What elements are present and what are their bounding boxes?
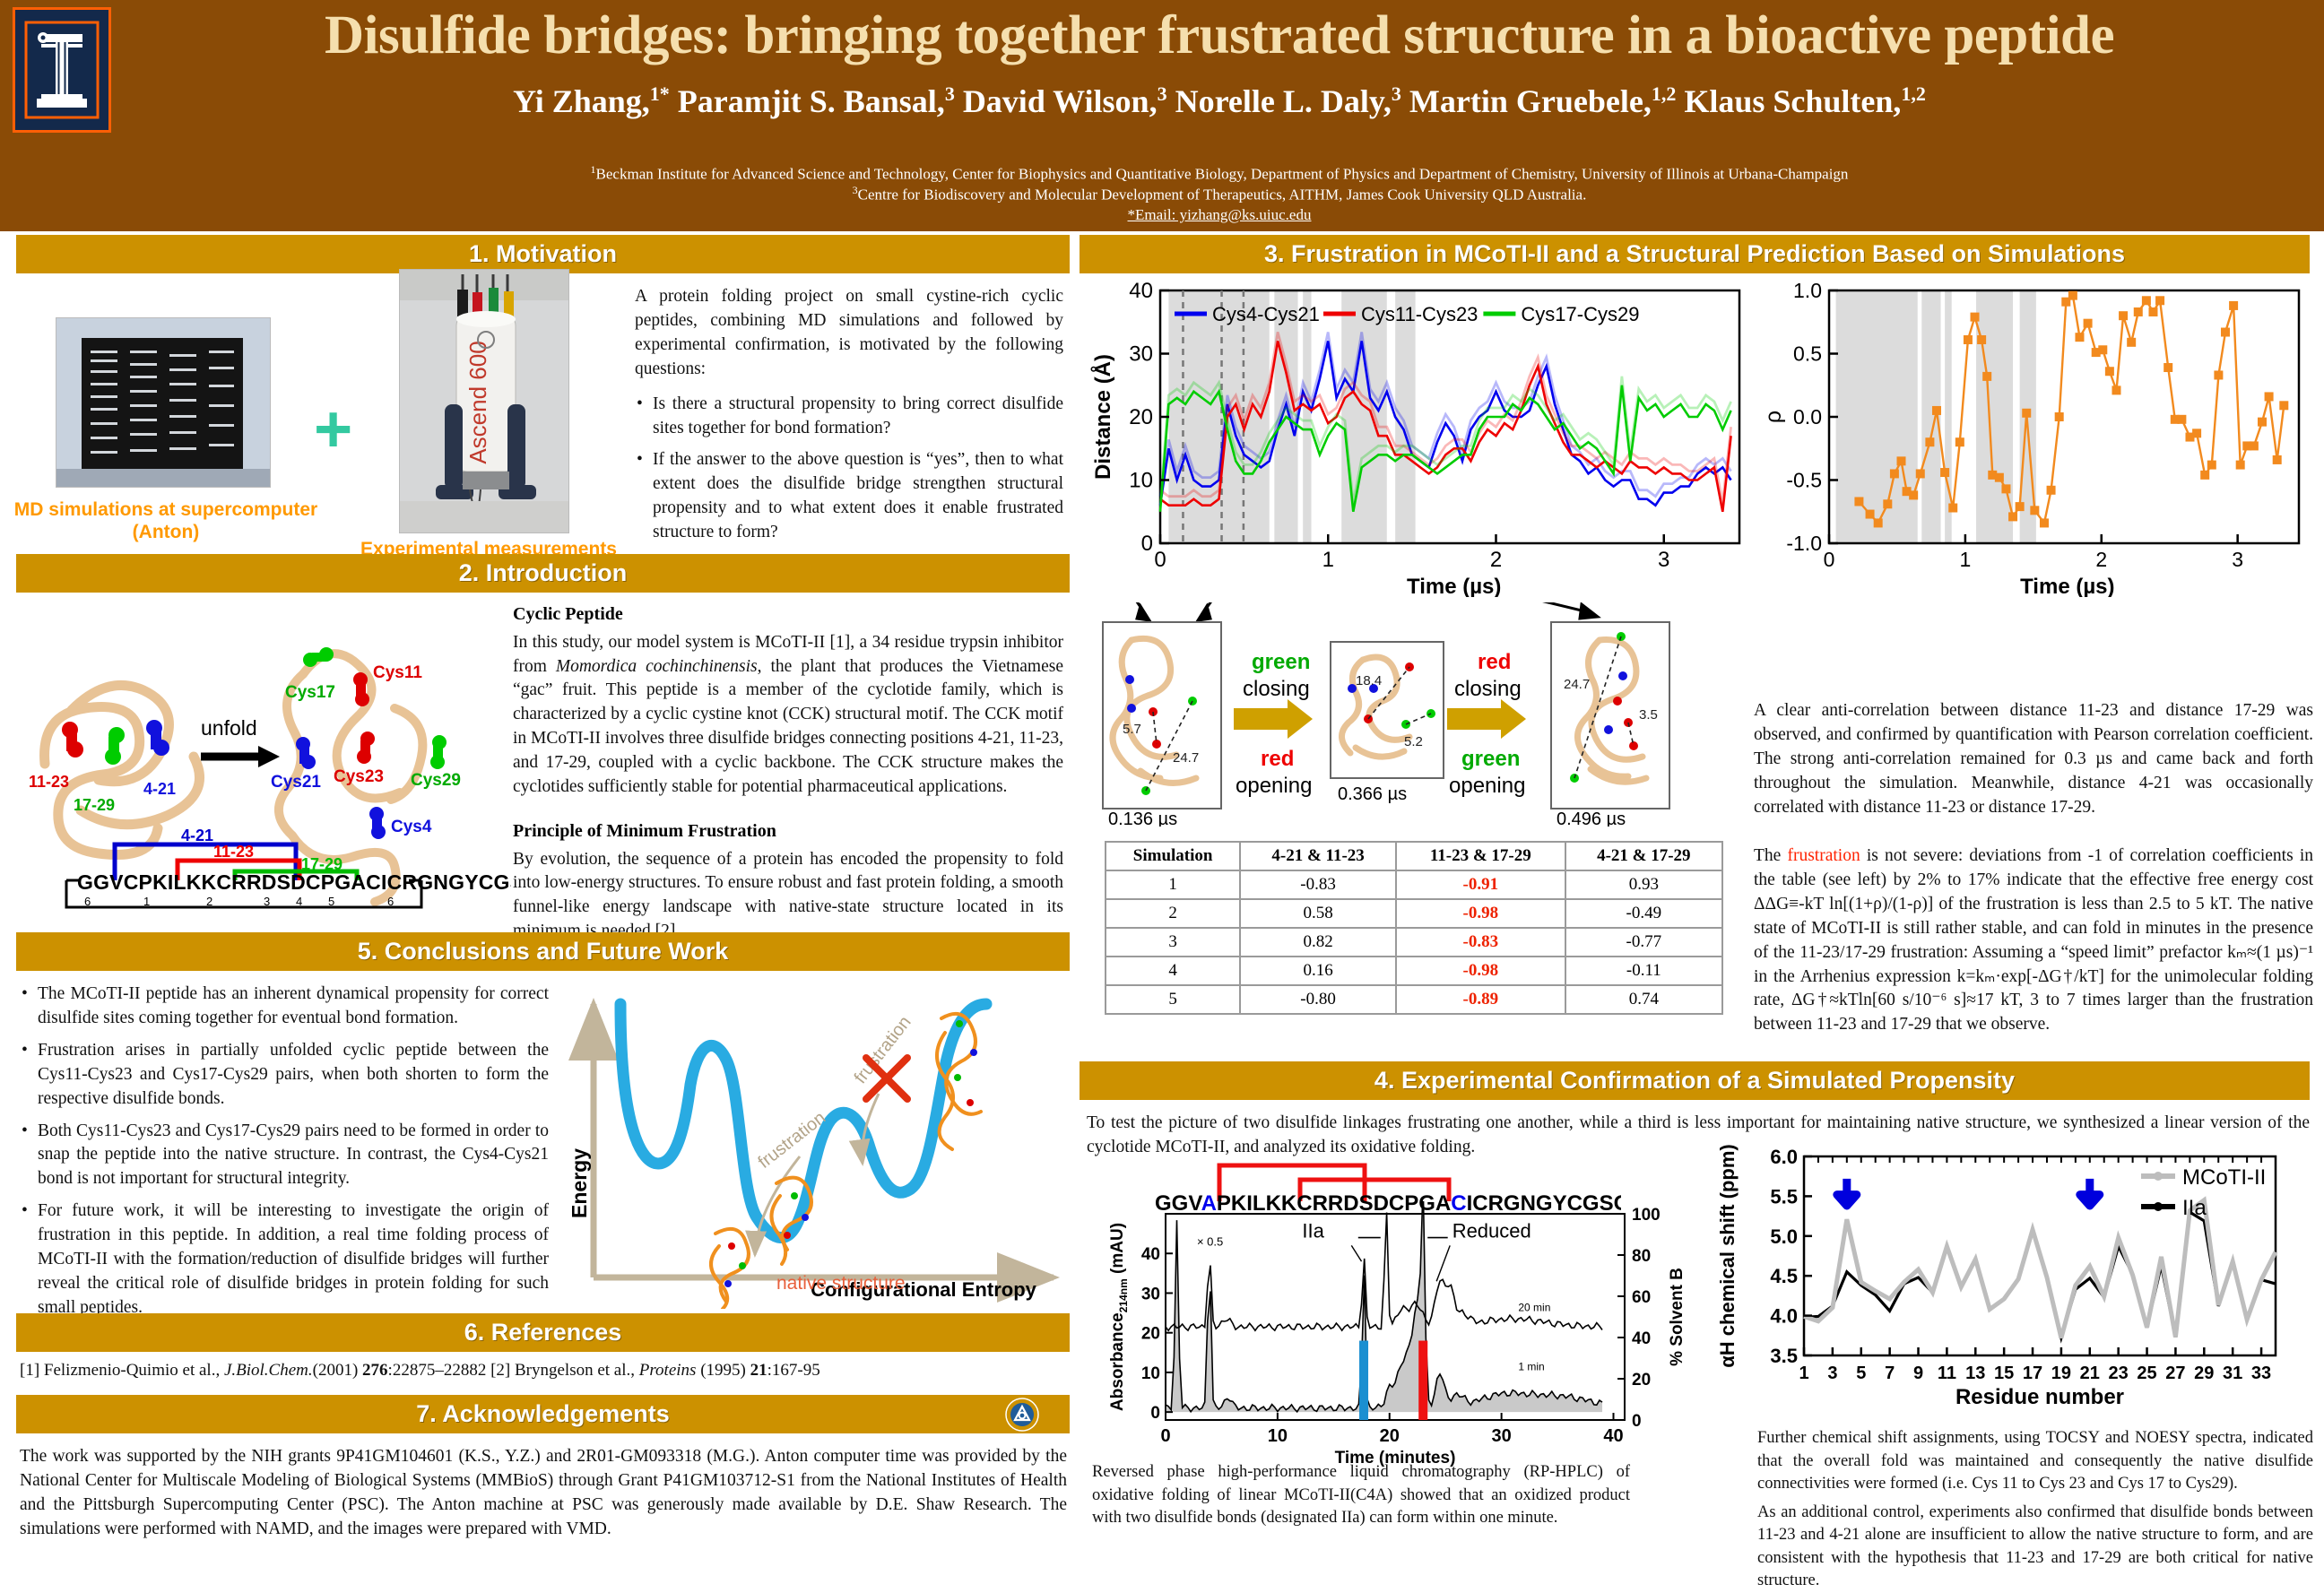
section-banner-frustration: 3. Frustration in MCoTI-II and a Structu… [1080, 235, 2310, 273]
poster-header: Disulfide bridges: bringing together fru… [0, 0, 2324, 231]
svg-text:ρ: ρ [1761, 411, 1786, 423]
svg-text:2: 2 [206, 895, 212, 908]
svg-text:2: 2 [1490, 548, 1502, 572]
svg-text:4-21: 4-21 [143, 780, 176, 798]
cell-a: 0.16 [1240, 957, 1396, 985]
cell-sim: 4 [1106, 957, 1240, 985]
svg-text:-1.0: -1.0 [1786, 532, 1822, 555]
native-structure-label: native structure [776, 1273, 906, 1294]
svg-text:0: 0 [1150, 1404, 1160, 1423]
svg-text:Energy: Energy [568, 1148, 591, 1218]
min-frustration-paragraph: By evolution, the sequence of a protein … [513, 848, 1063, 945]
frustration-keyword: frustration [1787, 846, 1860, 865]
svg-text:6.0: 6.0 [1770, 1146, 1798, 1168]
cell-a: -0.83 [1240, 870, 1396, 899]
supercomputer-caption-line2: (Anton) [9, 521, 323, 543]
cell-sim: 1 [1106, 870, 1240, 899]
affiliation-2: Centre for Biodiscovery and Molecular De… [858, 186, 1587, 203]
chemshift-caption-p2: As an additional control, experiments al… [1757, 1502, 2313, 1593]
svg-text:11-23: 11-23 [213, 843, 254, 861]
arrow1-label-green: green [1252, 650, 1310, 674]
svg-text:40: 40 [1129, 279, 1153, 303]
snapshot-3-time: 0.496 µs [1557, 809, 1626, 827]
motivation-bullet-2: If the answer to the above question is “… [635, 448, 1063, 545]
svg-text:17-29: 17-29 [74, 796, 115, 814]
svg-text:1: 1 [1799, 1364, 1808, 1383]
svg-text:1 min: 1 min [1518, 1361, 1544, 1373]
svg-text:5.0: 5.0 [1770, 1225, 1798, 1248]
ref1-journal: J.Biol.Chem. [224, 1361, 313, 1380]
cell-a: 0.82 [1240, 928, 1396, 957]
svg-text:10: 10 [1268, 1426, 1288, 1446]
svg-text:Time (µs): Time (µs) [2020, 575, 2114, 597]
cell-b: -0.98 [1396, 899, 1565, 928]
svg-text:Residue number: Residue number [1955, 1385, 2124, 1409]
author-list: Yi Zhang,1* Paramjit S. Bansal,3 David W… [126, 82, 2313, 120]
university-logo [13, 7, 111, 133]
svg-text:IIa: IIa [1302, 1220, 1324, 1242]
svg-text:0.0: 0.0 [1793, 405, 1822, 429]
svg-text:60: 60 [1632, 1288, 1651, 1307]
svg-text:unfold: unfold [201, 716, 257, 740]
table-row: 20.58-0.98-0.49 [1106, 899, 1722, 928]
snapshot-1-time: 0.136 µs [1108, 809, 1177, 827]
supercomputer-caption-line1: MD simulations at supercomputer [9, 498, 323, 521]
svg-text:1.0: 1.0 [1793, 279, 1822, 302]
svg-text:-0.5: -0.5 [1786, 469, 1822, 492]
conclusion-bullet-1: The MCoTI-II peptide has an inherent dyn… [20, 983, 549, 1031]
structure-snapshot-sequence: 5.7 24.7 0.136 µs green closing red open… [1090, 602, 1745, 827]
svg-text:MCoTI-II: MCoTI-II [2182, 1165, 2266, 1190]
motivation-bullet-1: Is there a structural propensity to brin… [635, 393, 1063, 441]
snapshot-2-time: 0.366 µs [1338, 784, 1407, 804]
svg-text:0: 0 [1824, 548, 1835, 571]
svg-text:17: 17 [2023, 1364, 2042, 1383]
affiliations: 1Beckman Institute for Advanced Science … [126, 163, 2313, 225]
svg-text:3: 3 [264, 895, 270, 908]
rp-hplc-chart: 010203040020406080100010203040Time (minu… [1103, 1201, 1695, 1470]
min-frustration-heading: Principle of Minimum Frustration [513, 819, 1063, 844]
cyclic-peptide-heading: Cyclic Peptide [513, 602, 1063, 628]
svg-text:Cys4-Cys21: Cys4-Cys21 [1212, 303, 1320, 325]
table-row: 40.16-0.98-0.11 [1106, 957, 1722, 985]
svg-text:40: 40 [1632, 1329, 1651, 1348]
th-4-21-11-23: 4-21 & 11-23 [1240, 842, 1396, 870]
ref1-volume: 276 [362, 1361, 388, 1380]
conclusion-bullet-2: Frustration arises in partially unfolded… [20, 1039, 549, 1112]
svg-text:Cys11-Cys23: Cys11-Cys23 [1361, 303, 1478, 325]
svg-text:5: 5 [1856, 1364, 1866, 1383]
svg-text:20: 20 [1141, 1325, 1160, 1344]
block-i-icon [23, 20, 100, 120]
ref2-author: [2] Bryngelson et al., [490, 1361, 639, 1380]
svg-text:3: 3 [2232, 548, 2243, 571]
svg-text:40: 40 [1141, 1245, 1160, 1264]
arrow1-label-red: red [1261, 747, 1294, 771]
ref1-year: (2001) [313, 1361, 362, 1380]
pearson-correlation-chart: -1.0-0.50.00.51.00123Time (µs)ρ [1757, 274, 2313, 597]
svg-text:13: 13 [1965, 1364, 1985, 1383]
svg-text:4-21: 4-21 [181, 827, 213, 844]
snapshot-3-dist-1: 24.7 [1564, 677, 1590, 692]
svg-text:10: 10 [1129, 469, 1153, 493]
cyclic-peptide-paragraph: In this study, our model system is MCoTI… [513, 631, 1063, 800]
svg-text:30: 30 [1141, 1285, 1160, 1303]
svg-text:5: 5 [328, 895, 334, 908]
arrow-right-icon-1 [1234, 699, 1313, 739]
svg-text:15: 15 [1994, 1364, 2014, 1383]
table-row: 30.82-0.83-0.77 [1106, 928, 1722, 957]
cell-b: -0.83 [1396, 928, 1565, 957]
arrow1-label-closing: closing [1243, 677, 1310, 701]
svg-text:33: 33 [2251, 1364, 2271, 1383]
section-banner-references: 6. References [16, 1313, 1070, 1352]
section-banner-experimental: 4. Experimental Confirmation of a Simula… [1080, 1061, 2310, 1100]
cell-c: 0.74 [1565, 985, 1722, 1014]
section-banner-motivation: 1. Motivation [16, 235, 1070, 273]
svg-text:20 min: 20 min [1518, 1301, 1550, 1313]
correlation-table: Simulation 4-21 & 11-23 11-23 & 17-29 4-… [1105, 841, 1723, 1015]
svg-text:5.5: 5.5 [1770, 1185, 1798, 1208]
poster-title: Disulfide bridges: bringing together fru… [126, 7, 2313, 65]
arrow1-label-opening: opening [1236, 774, 1312, 798]
svg-text:0: 0 [1154, 548, 1166, 572]
energy-landscape-figure: Energy Configurational Entropy frustrati… [565, 977, 1067, 1309]
svg-text:Time (µs): Time (µs) [1407, 575, 1501, 597]
chemical-shift-caption: Further chemical shift assignments, usin… [1757, 1427, 2313, 1593]
arrow2-label-opening: opening [1449, 774, 1525, 798]
svg-text:Cys11: Cys11 [373, 663, 422, 682]
cell-c: -0.49 [1565, 899, 1722, 928]
cell-sim: 5 [1106, 985, 1240, 1014]
svg-text:0: 0 [1632, 1412, 1642, 1431]
correlation-table-wrapper: Simulation 4-21 & 11-23 11-23 & 17-29 4-… [1105, 841, 1723, 1015]
svg-text:3.5: 3.5 [1770, 1345, 1798, 1367]
svg-text:20: 20 [1632, 1371, 1651, 1390]
table-row: 1-0.83-0.910.93 [1106, 870, 1722, 899]
svg-text:21: 21 [2080, 1364, 2100, 1383]
svg-text:Cys21: Cys21 [271, 773, 321, 792]
conclusion-bullet-4: For future work, it will be interesting … [20, 1199, 549, 1320]
svg-text:4: 4 [296, 895, 302, 908]
conclusion-bullet-3: Both Cys11-Cys23 and Cys17-Cys29 pairs n… [20, 1120, 549, 1192]
references-text: [1] Felizmenio-Quimio et al., J.Biol.Che… [20, 1359, 1067, 1382]
svg-text:Distance (Å): Distance (Å) [1090, 354, 1115, 480]
svg-text:80: 80 [1632, 1247, 1651, 1266]
introduction-text: Cyclic Peptide In this study, our model … [513, 602, 1063, 944]
frustration-pre: The [1754, 846, 1787, 865]
ref2-year: (1995) [696, 1361, 750, 1380]
svg-text:2: 2 [2095, 548, 2107, 571]
cell-b: -0.98 [1396, 957, 1565, 985]
th-11-23-17-29: 11-23 & 17-29 [1396, 842, 1565, 870]
frustration-post: is not severe: deviations from -1 of cor… [1754, 846, 2313, 1034]
nih-logo-icon [1004, 1397, 1040, 1433]
svg-text:100: 100 [1632, 1206, 1661, 1225]
anton-supercomputer-photo [56, 317, 271, 488]
supercomputer-caption: MD simulations at supercomputer (Anton) [9, 498, 323, 543]
svg-text:3: 3 [1827, 1364, 1837, 1383]
chemical-shift-chart: 3.54.04.55.05.56.01357911131517192123252… [1704, 1137, 2304, 1424]
ref1-pages: :22875–22882 [388, 1361, 491, 1380]
conclusions-list: The MCoTI-II peptide has an inherent dyn… [20, 983, 549, 1329]
th-4-21-17-29: 4-21 & 17-29 [1565, 842, 1722, 870]
intro-p1b: , the plant that produces the Vietnamese… [513, 657, 1063, 797]
svg-text:7: 7 [1885, 1364, 1895, 1383]
cell-sim: 3 [1106, 928, 1240, 957]
svg-text:Absorbance214nm (mAU): Absorbance214nm (mAU) [1108, 1223, 1130, 1411]
section-banner-conclusions: 5. Conclusions and Future Work [16, 932, 1070, 971]
svg-text:20: 20 [1129, 405, 1153, 429]
svg-text:1: 1 [143, 895, 150, 908]
svg-text:αH chemical shift (ppm): αH chemical shift (ppm) [1716, 1144, 1739, 1367]
motivation-text: A protein folding project on small cysti… [635, 285, 1063, 553]
svg-text:IIa: IIa [2182, 1196, 2207, 1220]
svg-text:25: 25 [2137, 1364, 2156, 1383]
cell-b: -0.91 [1396, 870, 1565, 899]
svg-text:Reduced: Reduced [1452, 1220, 1531, 1242]
svg-text:19: 19 [2051, 1364, 2071, 1383]
cell-c: -0.11 [1565, 957, 1722, 985]
nmr-spectrometer-photo: Ascend 600 [399, 269, 569, 533]
svg-text:30: 30 [1129, 342, 1153, 367]
chemshift-caption-p1: Further chemical shift assignments, usin… [1757, 1427, 2313, 1496]
svg-text:27: 27 [2165, 1364, 2185, 1383]
ref2-pages: :167-95 [767, 1361, 820, 1380]
svg-text:4.0: 4.0 [1770, 1305, 1798, 1328]
snapshot-2-dist-1: 18.4 [1356, 673, 1382, 688]
svg-text:Cys29: Cys29 [411, 771, 461, 790]
snapshot-2-dist-2: 5.2 [1404, 734, 1423, 749]
hplc-caption: Reversed phase high-performance liquid c… [1092, 1461, 1630, 1530]
arrow2-label-closing: closing [1454, 677, 1522, 701]
species-name: Momordica cochinchinensis [556, 657, 758, 676]
svg-text:40: 40 [1603, 1426, 1623, 1446]
affiliation-1: Beckman Institute for Advanced Science a… [596, 166, 1849, 183]
cell-a: -0.80 [1240, 985, 1396, 1014]
svg-text:Cys23: Cys23 [334, 767, 384, 786]
arrow-right-icon-2 [1447, 699, 1526, 739]
svg-text:10: 10 [1141, 1364, 1160, 1383]
arrow2-label-green: green [1461, 747, 1520, 771]
contact-email[interactable]: *Email: yizhang@ks.uiuc.edu [1128, 206, 1312, 223]
svg-text:23: 23 [2109, 1364, 2129, 1383]
svg-text:20: 20 [1380, 1426, 1400, 1446]
cell-c: 0.93 [1565, 870, 1722, 899]
svg-text:% Solvent B: % Solvent B [1668, 1268, 1687, 1366]
svg-text:× 0.5: × 0.5 [1197, 1234, 1223, 1248]
arrow2-label-red: red [1478, 650, 1511, 674]
cell-c: -0.77 [1565, 928, 1722, 957]
section-banner-acknowledgements: 7. Acknowledgements [16, 1395, 1070, 1433]
svg-text:6: 6 [387, 895, 394, 908]
table-header-row: Simulation 4-21 & 11-23 11-23 & 17-29 4-… [1106, 842, 1722, 870]
cell-sim: 2 [1106, 899, 1240, 928]
svg-text:Ascend 600: Ascend 600 [464, 341, 491, 463]
svg-text:0: 0 [1160, 1426, 1170, 1446]
svg-text:GGVCPKILKKCRRDSDCPGACICRGNGYCG: GGVCPKILKKCRRDSDCPGACICRGNGYCGSGSD [77, 870, 511, 894]
snapshot-1-dist-2: 24.7 [1173, 750, 1199, 766]
svg-text:1: 1 [1322, 548, 1334, 572]
svg-text:Cys17-Cys29: Cys17-Cys29 [1521, 303, 1639, 325]
section-banner-introduction: 2. Introduction [16, 554, 1070, 593]
plus-icon: + [314, 391, 352, 467]
acknowledgements-text: The work was supported by the NIH grants… [20, 1445, 1067, 1542]
svg-text:9: 9 [1913, 1364, 1923, 1383]
snapshot-1-dist-1: 5.7 [1123, 722, 1141, 737]
sequence-bridge-diagram: 4-21 11-23 17-29 GGVCPKILKKCRRDSDCPGACIC… [45, 825, 511, 911]
svg-text:30: 30 [1492, 1426, 1512, 1446]
svg-text:1: 1 [1959, 548, 1971, 571]
th-simulation: Simulation [1106, 842, 1240, 870]
distance-timeseries-chart: 0102030400123Time (µs)Distance (Å)Cys4-C… [1087, 274, 1750, 597]
ref1-author: [1] Felizmenio-Quimio et al., [20, 1361, 224, 1380]
svg-text:11: 11 [1938, 1364, 1956, 1383]
svg-text:0.5: 0.5 [1793, 342, 1822, 366]
frustration-paragraph: The frustration is not severe: deviation… [1754, 844, 2313, 1037]
svg-text:0: 0 [1141, 532, 1153, 556]
ref2-volume: 21 [750, 1361, 767, 1380]
anticorrelation-paragraph: A clear anti-correlation between distanc… [1754, 699, 2313, 820]
svg-text:31: 31 [2223, 1364, 2242, 1383]
svg-text:11-23: 11-23 [29, 773, 69, 791]
snapshot-3-dist-2: 3.5 [1639, 707, 1658, 723]
cell-a: 0.58 [1240, 899, 1396, 928]
svg-text:Cys17: Cys17 [285, 683, 335, 702]
cell-b: -0.89 [1396, 985, 1565, 1014]
svg-text:6: 6 [84, 895, 91, 908]
svg-text:4.5: 4.5 [1770, 1265, 1798, 1287]
table-row: 5-0.80-0.890.74 [1106, 985, 1722, 1014]
ref2-journal: Proteins [639, 1361, 697, 1380]
motivation-intro: A protein folding project on small cysti… [635, 285, 1063, 382]
svg-text:29: 29 [2194, 1364, 2214, 1383]
svg-text:3: 3 [1658, 548, 1669, 572]
